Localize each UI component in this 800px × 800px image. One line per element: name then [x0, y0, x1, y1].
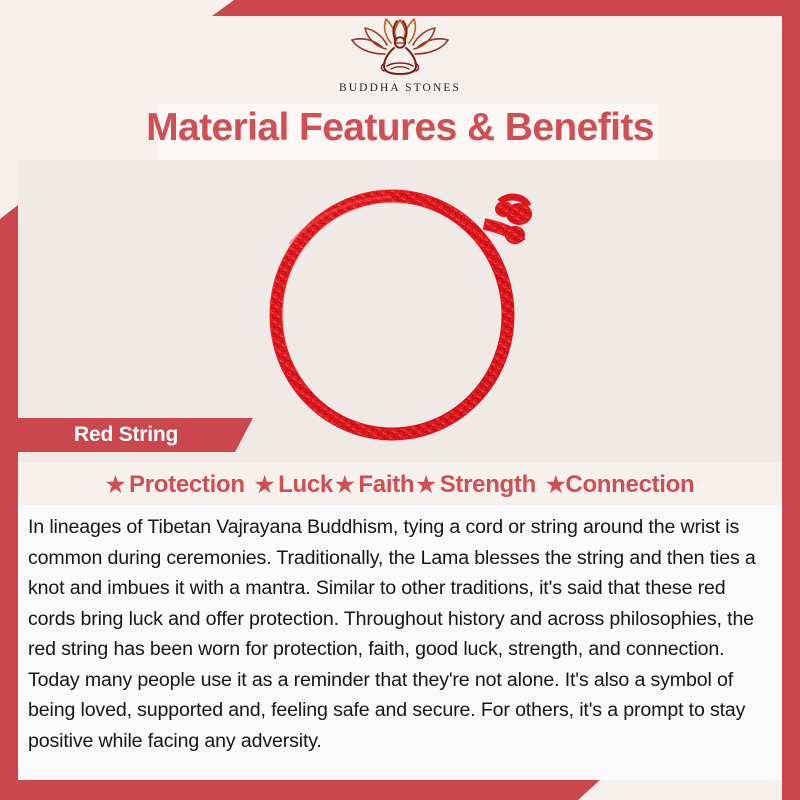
- product-image: [232, 172, 562, 452]
- page-title: Material Features & Benefits: [0, 106, 800, 150]
- star-icon: ★: [255, 474, 274, 496]
- benefit-item: ★ Luck: [255, 471, 333, 499]
- benefit-item: ★ Protection: [106, 471, 245, 499]
- benefit-item: ★ Faith: [335, 471, 414, 499]
- left-accent-band: [0, 205, 18, 785]
- top-accent-band: [212, 0, 800, 16]
- benefit-label: Connection: [565, 471, 694, 499]
- section-ribbon-label: Red String: [74, 423, 178, 447]
- lotus-meditation-icon: [341, 16, 459, 80]
- brand-logo: BUDDHA STONES: [0, 16, 800, 94]
- bottom-accent-band: [0, 780, 600, 800]
- benefit-label: Luck: [278, 471, 333, 499]
- star-icon: ★: [106, 474, 125, 496]
- benefit-label: Strength: [440, 471, 536, 499]
- benefit-label: Protection: [129, 471, 245, 499]
- brand-name: BUDDHA STONES: [339, 82, 461, 94]
- benefits-row: ★ Protection ★ Luck ★ Faith ★ Strength ★…: [18, 467, 782, 503]
- description-panel: In lineages of Tibetan Vajrayana Buddhis…: [18, 505, 782, 780]
- star-icon: ★: [546, 474, 565, 496]
- benefit-item: ★ Connection: [546, 471, 694, 499]
- description-text: In lineages of Tibetan Vajrayana Buddhis…: [28, 512, 764, 756]
- benefit-item: ★ Strength: [416, 471, 536, 499]
- star-icon: ★: [416, 474, 435, 496]
- star-icon: ★: [335, 474, 354, 496]
- benefit-label: Faith: [358, 471, 414, 499]
